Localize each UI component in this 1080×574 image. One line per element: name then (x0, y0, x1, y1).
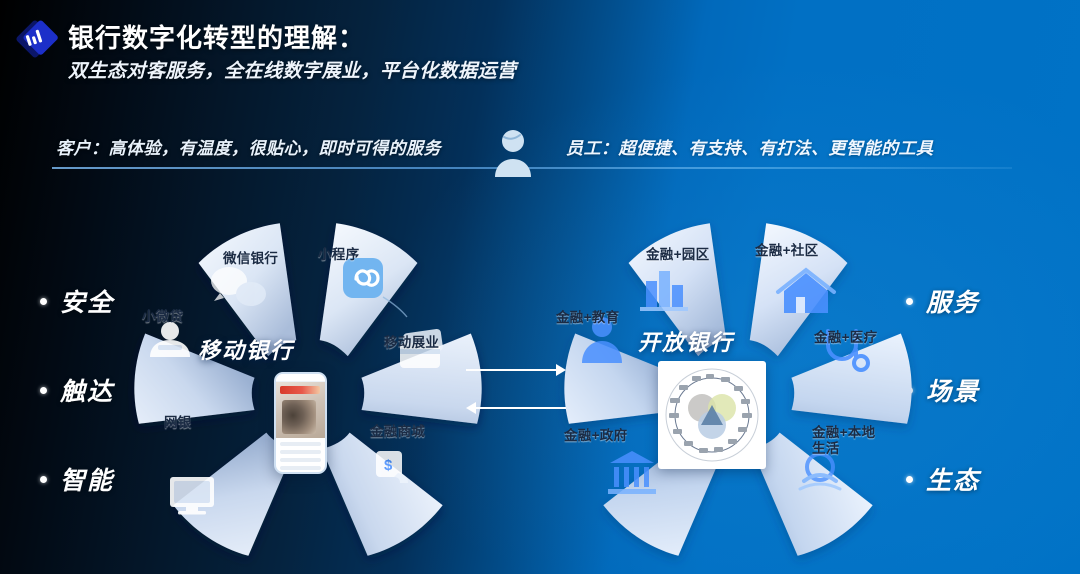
bullet-dot-icon (40, 476, 47, 483)
mobile-bank-phone-mockup (274, 372, 327, 474)
person-avatar-icon (489, 127, 537, 177)
open-bank-flower: 金融+园区 金融+社区 金融+医疗 金融+本地 生活 金融+政府 金融+教育 开… (528, 185, 948, 574)
mobile-bank-flower: $ 微信银行 小程序 移动展业 金融商城 网银 小微贷 移动银行 (98, 185, 518, 574)
bullet-dot-icon (40, 298, 47, 305)
employee-statement: 员工：超便捷、有支持、有打法、更智能的工具 (566, 134, 934, 159)
petal-label-mini-program: 小程序 (318, 247, 359, 263)
petal-label-finance-government: 金融+政府 (564, 428, 627, 444)
petal-label-finance-medical: 金融+医疗 (814, 330, 877, 346)
petal-label-finance-local-life: 金融+本地 生活 (812, 425, 875, 457)
slide-canvas: 银行数字化转型的理解： 双生态对客服务，全在线数字展业，平台化数据运营 客户：高… (0, 0, 1080, 574)
petal-label-finance-education: 金融+教育 (556, 310, 619, 326)
page-title: 银行数字化转型的理解： (68, 18, 365, 55)
phone-status-bar (276, 374, 325, 382)
svg-text:$: $ (384, 457, 393, 474)
petal-label-online-bank: 网银 (164, 415, 192, 431)
ecosystem-connector-arrows (462, 358, 570, 420)
left-flower-center-label: 移动银行 (198, 333, 294, 365)
page-subtitle: 双生态对客服务，全在线数字展业，平台化数据运营 (68, 56, 517, 83)
diamond-logo-icon (12, 16, 58, 62)
petal-label-finance-mall: 金融商城 (370, 424, 425, 440)
petal-label-mobile-business: 移动展业 (384, 335, 439, 351)
right-flower-center-label: 开放银行 (638, 325, 734, 357)
customer-statement: 客户：高体验，有温度，很贴心，即时可得的服务 (56, 134, 441, 159)
open-bank-ecosystem-diagram (658, 361, 766, 469)
phone-hero-banner (276, 382, 325, 438)
petal-label-micro-loan: 小微贷 (142, 309, 183, 325)
arrow-left-icon (466, 402, 566, 414)
bullet-dot-icon (40, 387, 47, 394)
petal-label-wechat-bank: 微信银行 (223, 251, 278, 267)
arrow-right-icon (466, 364, 566, 376)
phone-content-rows (276, 438, 325, 474)
petal-label-finance-park: 金融+园区 (646, 247, 709, 263)
petal-label-finance-community: 金融+社区 (755, 243, 818, 259)
